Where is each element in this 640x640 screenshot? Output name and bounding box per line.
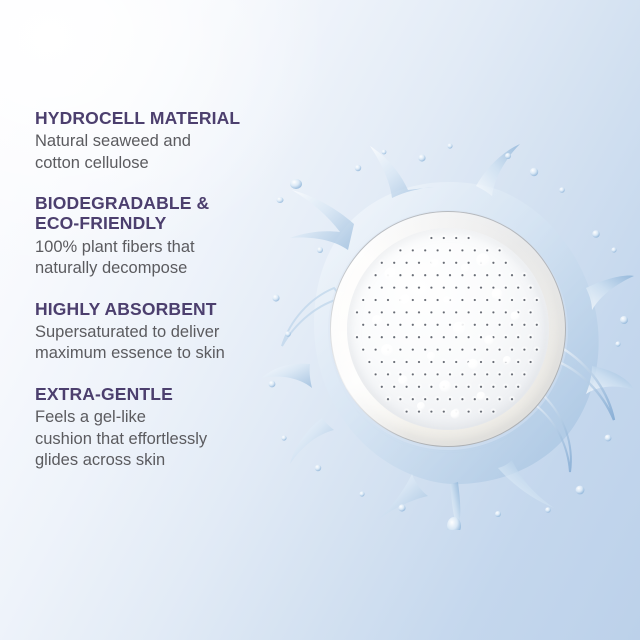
splash-spike-right-lower — [586, 366, 634, 394]
feature-title: BIODEGRADABLE & ECO-FRIENDLY — [35, 193, 293, 234]
splash-spike-left-bottom — [290, 418, 334, 464]
feature-body: 100% plant fibers that naturally decompo… — [35, 237, 293, 280]
splash-drip-tail — [450, 482, 460, 528]
water-droplet-highlights — [347, 228, 549, 430]
feature-title: HIGHLY ABSORBENT — [35, 299, 293, 319]
feature-item-biodegradable-eco-friendly: BIODEGRADABLE & ECO-FRIENDLY 100% plant … — [35, 193, 293, 279]
feature-title: HYDROCELL MATERIAL — [35, 108, 293, 128]
feature-list: HYDROCELL MATERIAL Natural seaweed and c… — [35, 108, 293, 471]
perforated-cotton-pad-disc — [330, 211, 566, 447]
splash-spike-right-upper — [586, 276, 634, 311]
feature-item-extra-gentle: EXTRA-GENTLE Feels a gel-like cushion th… — [35, 384, 293, 472]
disc-face — [347, 228, 549, 430]
splash-spike-bottom-left — [372, 474, 428, 524]
feature-item-hydrocell-material: HYDROCELL MATERIAL Natural seaweed and c… — [35, 108, 293, 174]
splash-spike-top-right — [476, 144, 520, 196]
feature-body: Feels a gel-like cushion that effortless… — [35, 407, 293, 471]
feature-body: Supersaturated to deliver maximum essenc… — [35, 322, 293, 365]
splash-spike-top-left — [370, 146, 434, 198]
splash-spike-bottom-right — [498, 460, 554, 508]
feature-title: EXTRA-GENTLE — [35, 384, 293, 404]
feature-item-highly-absorbent: HIGHLY ABSORBENT Supersaturated to deliv… — [35, 299, 293, 365]
product-infographic: HYDROCELL MATERIAL Natural seaweed and c… — [0, 0, 640, 640]
feature-body: Natural seaweed and cotton cellulose — [35, 131, 293, 174]
splash-drip-droplet — [447, 517, 461, 530]
